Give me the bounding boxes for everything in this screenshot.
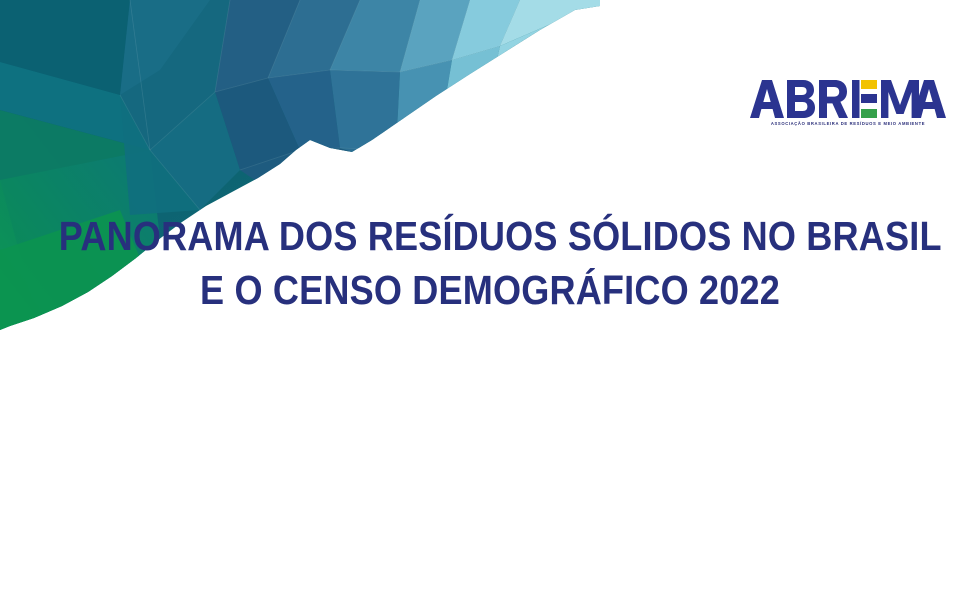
abrema-tagline: ASSOCIAÇÃO BRASILEIRA DE RESÍDUOS E MEIO… bbox=[746, 121, 950, 127]
logo-bar-blue bbox=[861, 94, 877, 103]
page-title-line-1: PANORAMA DOS RESÍDUOS SÓLIDOS NO BRASIL bbox=[59, 209, 921, 263]
page-title-line-2: E O CENSO DEMOGRÁFICO 2022 bbox=[59, 263, 921, 317]
logo-bar-green bbox=[861, 109, 877, 118]
logo-bar-yellow bbox=[861, 80, 877, 89]
abrema-logo: ASSOCIAÇÃO BRASILEIRA DE RESÍDUOS E MEIO… bbox=[748, 78, 948, 136]
abrema-wordmark-icon bbox=[748, 78, 948, 120]
slide-canvas: ASSOCIAÇÃO BRASILEIRA DE RESÍDUOS E MEIO… bbox=[0, 0, 980, 600]
page-title: PANORAMA DOS RESÍDUOS SÓLIDOS NO BRASIL … bbox=[0, 209, 980, 317]
